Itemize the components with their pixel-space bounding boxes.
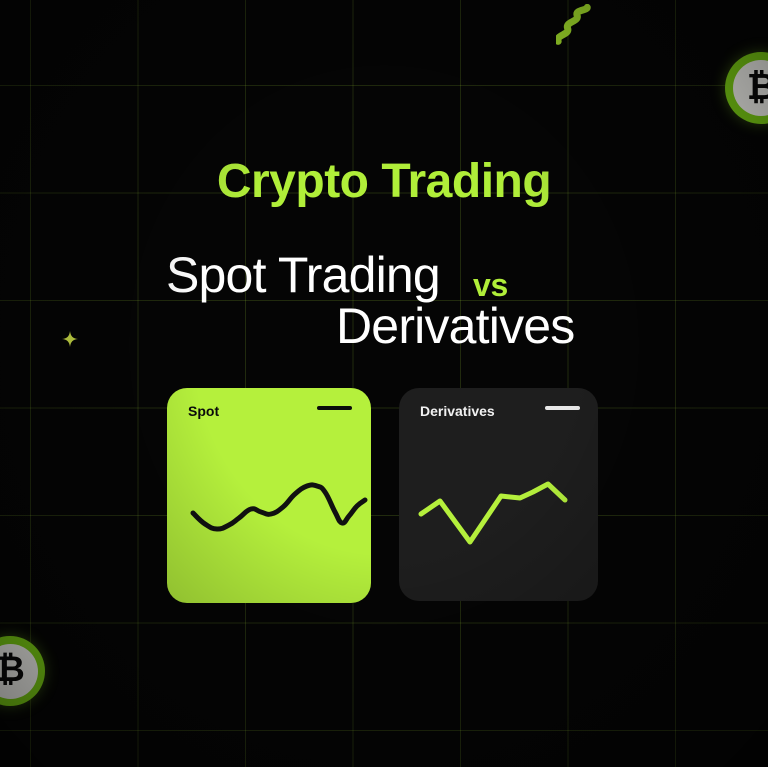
bitcoin-symbol: ₿: [747, 66, 768, 108]
bitcoin-coin-face: ₿: [733, 60, 768, 116]
versus-label: vs: [473, 269, 508, 301]
subtitle-line-two: Derivatives: [336, 301, 575, 351]
sparkle-star-icon: [62, 331, 78, 347]
subtitle-line-one: Spot Trading: [166, 250, 440, 300]
card-derivatives[interactable]: Derivatives: [399, 388, 598, 601]
bitcoin-symbol: ₿: [0, 650, 24, 690]
bitcoin-coin-icon-bottom-left: ₿: [0, 636, 45, 706]
vignette-overlay: [0, 0, 768, 767]
card-spot-chart: [167, 388, 371, 603]
background-grid: [0, 0, 768, 767]
card-spot[interactable]: Spot: [167, 388, 371, 603]
promo-canvas: ₿ ₿ Crypto Trading Spot Trading vs Deriv…: [0, 0, 768, 767]
page-title: Crypto Trading: [0, 158, 768, 206]
bitcoin-coin-face: ₿: [0, 644, 38, 699]
bitcoin-coin-icon-top-right: ₿: [725, 52, 768, 124]
squiggle-decoration-icon: [556, 4, 602, 52]
card-derivatives-chart: [399, 388, 598, 601]
